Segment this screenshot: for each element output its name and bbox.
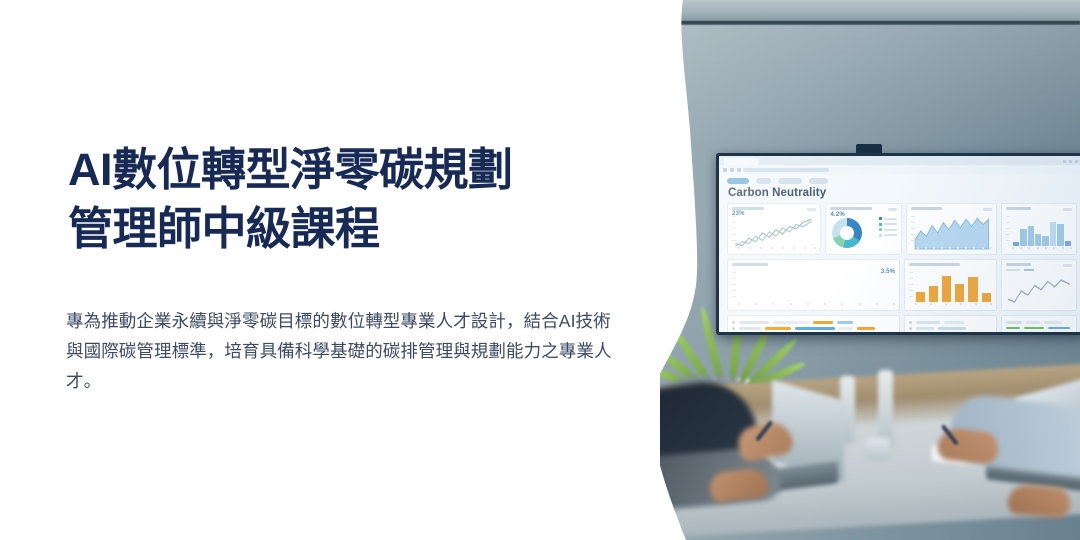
- hero-banner: Carbon Neutrality 23%: [0, 0, 1080, 540]
- page-description: 專為推動企業永續與淨零碳目標的數位轉型專業人才設計，結合AI技術與國際碳管理標準…: [66, 306, 626, 396]
- url-text: [743, 168, 829, 172]
- dashboard-body: Carbon Neutrality 23%: [719, 174, 1080, 332]
- table-row: [732, 321, 895, 324]
- tab-reports[interactable]: [756, 178, 771, 184]
- donut-chart: [832, 218, 862, 248]
- water-bottle: [878, 370, 893, 448]
- x-axis-ticks: [915, 303, 991, 306]
- card-menu-icon[interactable]: [1063, 264, 1072, 267]
- card-carbon-output[interactable]: 3.5%: [727, 259, 900, 311]
- line-chart-svg: [1006, 276, 1072, 306]
- y-axis-ticks: [732, 272, 737, 306]
- bar-chart: [909, 272, 991, 306]
- card-menu-icon[interactable]: [983, 208, 992, 211]
- area-chart-svg: [911, 216, 992, 250]
- card-emissions-breakdown[interactable]: 4.2%: [825, 203, 901, 255]
- drinking-glass: [866, 438, 890, 460]
- table-row-list: [1006, 319, 1072, 329]
- card-label: [1006, 263, 1031, 266]
- card-reduction-targets[interactable]: [904, 259, 996, 311]
- y-axis-ticks: [911, 216, 916, 250]
- card-label: [909, 263, 960, 266]
- x-axis-ticks: [738, 303, 895, 306]
- wall-display: Carbon Neutrality 23%: [716, 153, 1080, 335]
- dashboard-grid-row-1: 23%: [727, 203, 1077, 255]
- window-controls[interactable]: [1063, 160, 1078, 163]
- line-chart: [1006, 276, 1072, 306]
- card-menu-icon[interactable]: [807, 208, 816, 211]
- dashboard-grid-row-2: 3.5%: [727, 259, 1077, 311]
- chart-legend: [1006, 269, 1034, 271]
- card-status-panel[interactable]: [1001, 315, 1077, 332]
- table-row: [1006, 321, 1072, 324]
- table-row: [732, 327, 895, 330]
- table-row-list: [732, 319, 895, 330]
- wall-light-sheen: [660, 25, 1080, 145]
- dashboard-nav-tabs[interactable]: [727, 178, 1077, 184]
- card-summary-panel[interactable]: [904, 315, 996, 332]
- table-row: [909, 327, 991, 330]
- card-energy-performance[interactable]: [906, 203, 997, 255]
- area-chart: [911, 216, 992, 250]
- card-label: [732, 207, 764, 210]
- stacked-bar-chart: [732, 272, 895, 306]
- browser-tab-bar: [719, 156, 1080, 165]
- donut-legend: [879, 217, 897, 237]
- card-label: [911, 207, 942, 210]
- card-label: [1006, 207, 1031, 210]
- x-axis-ticks: [738, 247, 816, 250]
- tab-overview[interactable]: [727, 178, 749, 184]
- y-axis-ticks: [909, 272, 914, 306]
- tab-settings[interactable]: [809, 178, 828, 184]
- table-row: [1006, 327, 1072, 330]
- x-axis-ticks: [1012, 247, 1072, 250]
- bar-series: [1013, 216, 1071, 246]
- card-daily-output[interactable]: [1001, 203, 1077, 255]
- card-forecast[interactable]: [1001, 259, 1077, 311]
- dashboard-title: Carbon Neutrality: [728, 187, 1077, 199]
- card-menu-icon[interactable]: [888, 208, 897, 211]
- table-row: [909, 321, 991, 324]
- browser-nav-icons[interactable]: [723, 168, 741, 172]
- card-menu-icon[interactable]: [1063, 208, 1072, 211]
- person-right-hand: [1007, 484, 1071, 518]
- y-axis-ticks: [732, 216, 737, 250]
- bar-series: [916, 272, 990, 302]
- tab-analytics[interactable]: [778, 178, 802, 184]
- x-axis-ticks: [917, 247, 992, 250]
- bar-chart: [1006, 216, 1072, 250]
- conference-room-photo: Carbon Neutrality 23%: [660, 0, 1080, 540]
- table-row-list: [909, 319, 991, 330]
- card-label: [732, 263, 768, 266]
- browser-address-bar[interactable]: [719, 165, 1080, 174]
- ceiling-panel: [660, 0, 1080, 22]
- donut-ring: [832, 218, 862, 248]
- card-comparison-panel[interactable]: [727, 315, 900, 332]
- y-axis-ticks: [1006, 216, 1011, 250]
- stacked-bar-series: [739, 272, 894, 302]
- card-revenue-trend[interactable]: 23%: [727, 203, 821, 255]
- card-label: [830, 207, 871, 210]
- text-panel: AI數位轉型淨零碳規劃 管理師中級課程 專為推動企業永續與淨零碳目標的數位轉型專…: [0, 0, 660, 540]
- line-chart-svg: [732, 216, 816, 250]
- line-chart: [732, 216, 816, 250]
- browser-tab[interactable]: [724, 158, 758, 165]
- display-screen: Carbon Neutrality 23%: [719, 156, 1080, 332]
- page-title: AI數位轉型淨零碳規劃 管理師中級課程: [68, 140, 648, 258]
- dashboard-grid-row-3: [727, 315, 1077, 332]
